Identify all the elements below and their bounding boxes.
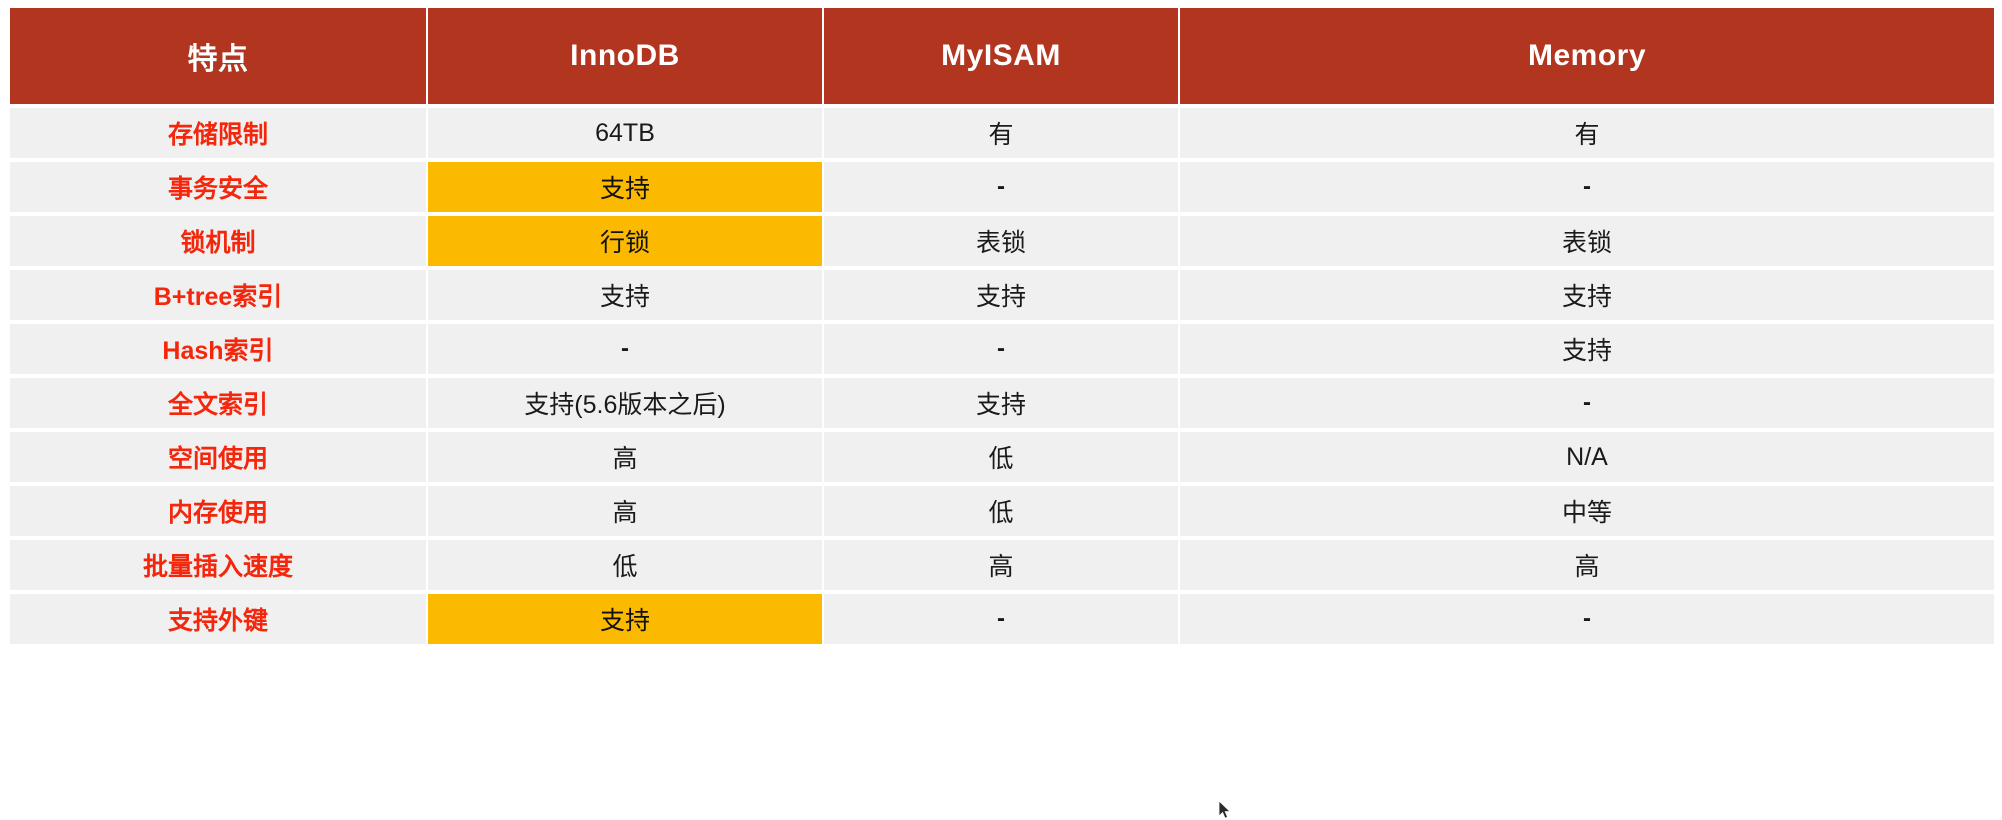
cell-feature: 支持外键 xyxy=(10,594,428,644)
table-row: 事务安全支持-- xyxy=(10,162,1994,212)
cell-feature: 全文索引 xyxy=(10,378,428,428)
table-row: 存储限制64TB有有 xyxy=(10,108,1994,158)
cell-memory: 高 xyxy=(1180,540,1994,590)
table-row: Hash索引--支持 xyxy=(10,324,1994,374)
table-row: B+tree索引支持支持支持 xyxy=(10,270,1994,320)
cell-memory: 表锁 xyxy=(1180,216,1994,266)
cell-innodb: 高 xyxy=(428,486,824,536)
cell-myisam: 表锁 xyxy=(824,216,1180,266)
cell-feature: Hash索引 xyxy=(10,324,428,374)
cell-myisam: 低 xyxy=(824,486,1180,536)
cell-memory: - xyxy=(1180,594,1994,644)
table-row: 空间使用高低N/A xyxy=(10,432,1994,482)
cell-innodb: 64TB xyxy=(428,108,824,158)
cell-myisam: 低 xyxy=(824,432,1180,482)
cell-myisam: 高 xyxy=(824,540,1180,590)
cell-feature: 空间使用 xyxy=(10,432,428,482)
column-header-innodb: InnoDB xyxy=(428,8,824,104)
cell-myisam: - xyxy=(824,162,1180,212)
cell-myisam: 支持 xyxy=(824,378,1180,428)
cell-memory: 支持 xyxy=(1180,324,1994,374)
cell-feature: 锁机制 xyxy=(10,216,428,266)
cell-innodb: 行锁 xyxy=(428,216,824,266)
cell-feature: 内存使用 xyxy=(10,486,428,536)
cell-myisam: - xyxy=(824,594,1180,644)
cell-memory: N/A xyxy=(1180,432,1994,482)
cell-innodb: 支持 xyxy=(428,162,824,212)
cell-feature: 事务安全 xyxy=(10,162,428,212)
cell-innodb: 支持 xyxy=(428,270,824,320)
cell-feature: 批量插入速度 xyxy=(10,540,428,590)
cell-feature: 存储限制 xyxy=(10,108,428,158)
table-row: 全文索引支持(5.6版本之后)支持- xyxy=(10,378,1994,428)
table-row: 支持外键支持-- xyxy=(10,594,1994,644)
cell-memory: 中等 xyxy=(1180,486,1994,536)
cell-feature: B+tree索引 xyxy=(10,270,428,320)
table-row: 内存使用高低中等 xyxy=(10,486,1994,536)
cell-myisam: 支持 xyxy=(824,270,1180,320)
table-body: 存储限制64TB有有事务安全支持--锁机制行锁表锁表锁B+tree索引支持支持支… xyxy=(10,108,1994,644)
cell-memory: 有 xyxy=(1180,108,1994,158)
cell-memory: 支持 xyxy=(1180,270,1994,320)
cell-innodb: - xyxy=(428,324,824,374)
engine-comparison-table: 特点 InnoDB MyISAM Memory 存储限制64TB有有事务安全支持… xyxy=(10,8,1994,820)
cell-innodb: 支持 xyxy=(428,594,824,644)
cell-memory: - xyxy=(1180,162,1994,212)
table-row: 批量插入速度低高高 xyxy=(10,540,1994,590)
cell-myisam: - xyxy=(824,324,1180,374)
column-header-feature: 特点 xyxy=(10,8,428,104)
cell-innodb: 支持(5.6版本之后) xyxy=(428,378,824,428)
cell-memory: - xyxy=(1180,378,1994,428)
cell-myisam: 有 xyxy=(824,108,1180,158)
cell-innodb: 高 xyxy=(428,432,824,482)
column-header-memory: Memory xyxy=(1180,8,1994,104)
table-row: 锁机制行锁表锁表锁 xyxy=(10,216,1994,266)
cell-innodb: 低 xyxy=(428,540,824,590)
column-header-myisam: MyISAM xyxy=(824,8,1180,104)
table-header-row: 特点 InnoDB MyISAM Memory xyxy=(10,8,1994,104)
